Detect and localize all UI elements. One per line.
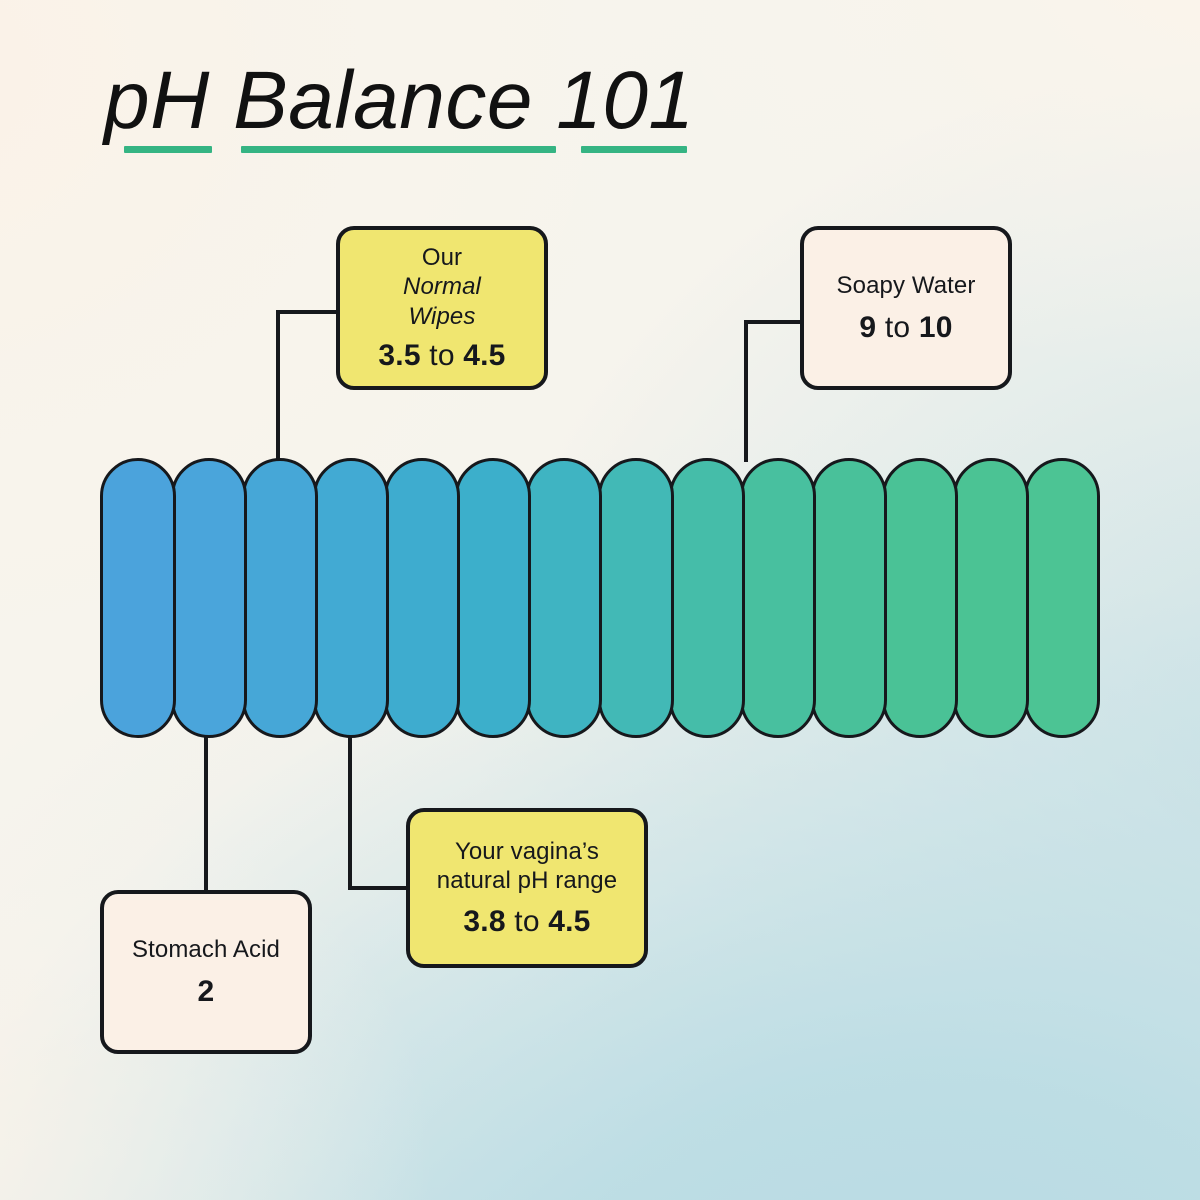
ph-scale-segment: [313, 458, 389, 738]
ph-scale-segment: [740, 458, 816, 738]
title-underline-balance: [241, 146, 556, 153]
callout-soapy-water[interactable]: Soapy Water 9 to 10: [800, 226, 1012, 390]
callout-label-line: Your vagina’s: [455, 837, 599, 866]
callout-label-line: Wipes: [409, 302, 476, 331]
connector-stomach-vertical: [204, 732, 208, 892]
infographic-canvas: pH Balance 101 Our Normal Wipes 3.5 to 4…: [0, 0, 1200, 1200]
callout-stomach-acid[interactable]: Stomach Acid 2: [100, 890, 312, 1054]
callout-label-line: Stomach Acid: [132, 935, 280, 964]
ph-scale: [100, 458, 1100, 738]
callout-vaginal-ph[interactable]: Your vagina’s natural pH range 3.8 to 4.…: [406, 808, 648, 968]
ph-scale-segment: [953, 458, 1029, 738]
value-low: 2: [198, 975, 215, 1008]
value-high: 10: [919, 311, 953, 344]
callout-value: 3.5 to 4.5: [378, 339, 505, 373]
ph-scale-segment: [669, 458, 745, 738]
ph-scale-segment: [242, 458, 318, 738]
ph-scale-segment: [384, 458, 460, 738]
ph-scale-segment: [100, 458, 176, 738]
connector-wipes-vertical: [276, 310, 280, 462]
callout-label-line: natural pH range: [437, 866, 617, 895]
callout-value: 9 to 10: [859, 311, 952, 345]
callout-our-normal-wipes[interactable]: Our Normal Wipes 3.5 to 4.5: [336, 226, 548, 390]
ph-scale-segment: [455, 458, 531, 738]
value-low: 3.8: [463, 905, 505, 938]
connector-vagina-vertical: [348, 732, 352, 890]
connector-soapy-vertical: [744, 320, 748, 462]
ph-scale-segment: [811, 458, 887, 738]
callout-label-line: Normal: [403, 272, 481, 301]
ph-scale-segment: [526, 458, 602, 738]
connector-vagina-horizontal: [348, 886, 410, 890]
value-low: 9: [859, 311, 876, 344]
value-high: 4.5: [463, 339, 505, 372]
page-title-block: pH Balance 101: [104, 60, 695, 142]
callout-value: 3.8 to 4.5: [463, 905, 590, 939]
callout-label-line: Our: [422, 243, 462, 272]
page-title: pH Balance 101: [104, 60, 695, 142]
title-underline-ph: [124, 146, 212, 153]
value-connector-word: to: [514, 905, 539, 938]
callout-value: 2: [198, 975, 215, 1009]
ph-scale-segment: [882, 458, 958, 738]
value-low: 3.5: [378, 339, 420, 372]
callout-label-line: Soapy Water: [837, 271, 976, 300]
value-connector-word: to: [429, 339, 454, 372]
title-underline-101: [581, 146, 687, 153]
ph-scale-segment: [171, 458, 247, 738]
connector-wipes-horizontal: [276, 310, 338, 314]
value-connector-word: to: [885, 311, 910, 344]
ph-scale-segment: [1024, 458, 1100, 738]
ph-scale-segment: [598, 458, 674, 738]
connector-soapy-horizontal: [744, 320, 802, 324]
value-high: 4.5: [548, 905, 590, 938]
